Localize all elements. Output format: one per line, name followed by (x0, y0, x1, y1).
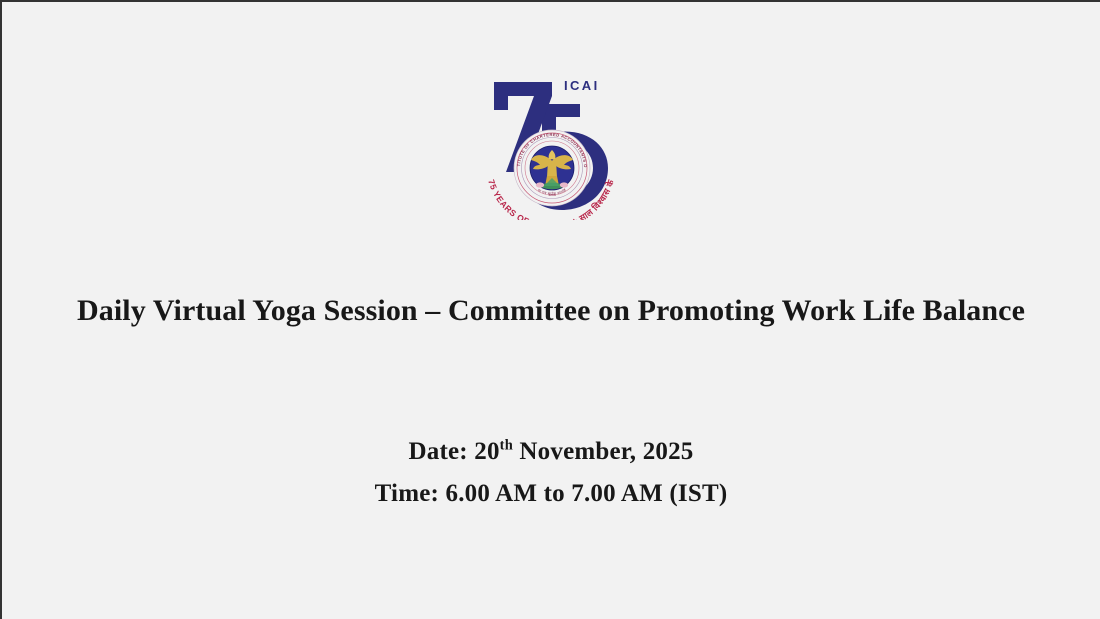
date-day: 20 (474, 438, 499, 465)
date-label: Date: (409, 438, 468, 465)
logo-icai-wordmark: ICAI (564, 78, 600, 93)
session-date-line: Date: 20th November, 2025 (2, 431, 1100, 473)
date-rest: November, 2025 (519, 438, 693, 465)
logo-container: ICAI THE INSTITUTE OF CHARTERED ACCOUNTA… (2, 60, 1100, 220)
seal-base-label: भारत (549, 193, 555, 197)
icai-logo-graphic: ICAI THE INSTITUTE OF CHARTERED ACCOUNTA… (476, 60, 626, 220)
session-details: Date: 20th November, 2025 Time: 6.00 AM … (2, 431, 1100, 515)
date-ordinal-suffix: th (500, 438, 513, 454)
icai-75-anniversary-logo: ICAI THE INSTITUTE OF CHARTERED ACCOUNTA… (476, 60, 626, 220)
session-time-line: Time: 6.00 AM to 7.00 AM (IST) (2, 473, 1100, 515)
slide-title: Daily Virtual Yoga Session – Committee o… (2, 294, 1100, 329)
presentation-slide: ICAI THE INSTITUTE OF CHARTERED ACCOUNTA… (0, 0, 1100, 619)
